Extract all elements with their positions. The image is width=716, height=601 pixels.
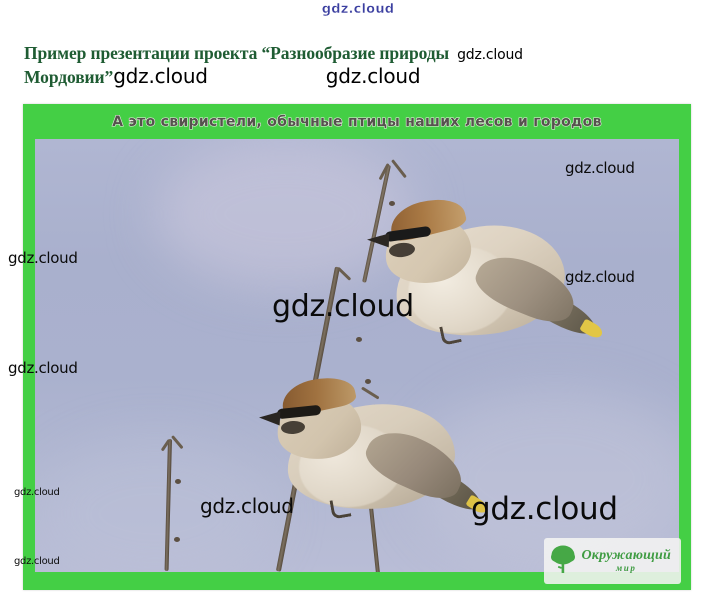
branch-bud xyxy=(175,479,181,484)
watermark-title-right: gdz.cloud xyxy=(457,47,523,63)
bird-beak xyxy=(259,410,281,425)
brand-subtitle: мир xyxy=(616,564,636,573)
top-watermark: gdz.cloud xyxy=(0,2,716,17)
page-title-text-1: Пример презентации проекта “Разнообразие… xyxy=(24,43,449,63)
watermark-center: gdz.cloud xyxy=(272,289,414,324)
watermark-left-4: gdz.cloud xyxy=(14,556,60,567)
page-title-line-1: Пример презентации проекта “Разнообразие… xyxy=(24,44,696,64)
bird-tail-tip xyxy=(579,318,605,340)
watermark-left-3: gdz.cloud xyxy=(14,487,60,498)
brand-logo-text: Окружающий мир xyxy=(582,549,672,573)
watermark-right-2: gdz.cloud xyxy=(565,268,635,286)
tree-twig xyxy=(391,159,407,178)
bird-foot xyxy=(329,497,351,519)
page-title-text-2: Мордовии” xyxy=(24,67,113,87)
tree-twig xyxy=(171,435,184,449)
brand-logo: Окружающий мир xyxy=(544,538,682,584)
watermark-lower-mid: gdz.cloud xyxy=(200,494,294,518)
watermark-title-mid-2: gdz.cloud xyxy=(326,64,421,88)
branch-bud xyxy=(174,537,180,542)
bird-beak xyxy=(367,233,389,248)
tree-branch xyxy=(165,439,172,571)
bird-foot xyxy=(439,323,462,346)
brand-name: Окружающий xyxy=(582,549,672,563)
page-title: Пример презентации проекта “Разнообразие… xyxy=(24,44,696,88)
waxwing-bird-lower xyxy=(251,371,501,561)
tree-twig xyxy=(337,267,351,281)
slide-caption-bar: А это свиристели, обычные птицы наших ле… xyxy=(23,104,691,139)
watermark-left-2: gdz.cloud xyxy=(8,359,78,377)
slide-caption-text: А это свиристели, обычные птицы наших ле… xyxy=(112,114,602,130)
watermark-right-1: gdz.cloud xyxy=(565,159,635,177)
watermark-title-mid-1: gdz.cloud xyxy=(113,64,208,88)
watermark-lower-right: gdz.cloud xyxy=(471,491,618,527)
tree-icon xyxy=(550,544,576,579)
page-title-line-2: Мордовии”gdz.cloudgdz.cloud xyxy=(24,65,696,88)
watermark-left-1: gdz.cloud xyxy=(8,249,78,267)
